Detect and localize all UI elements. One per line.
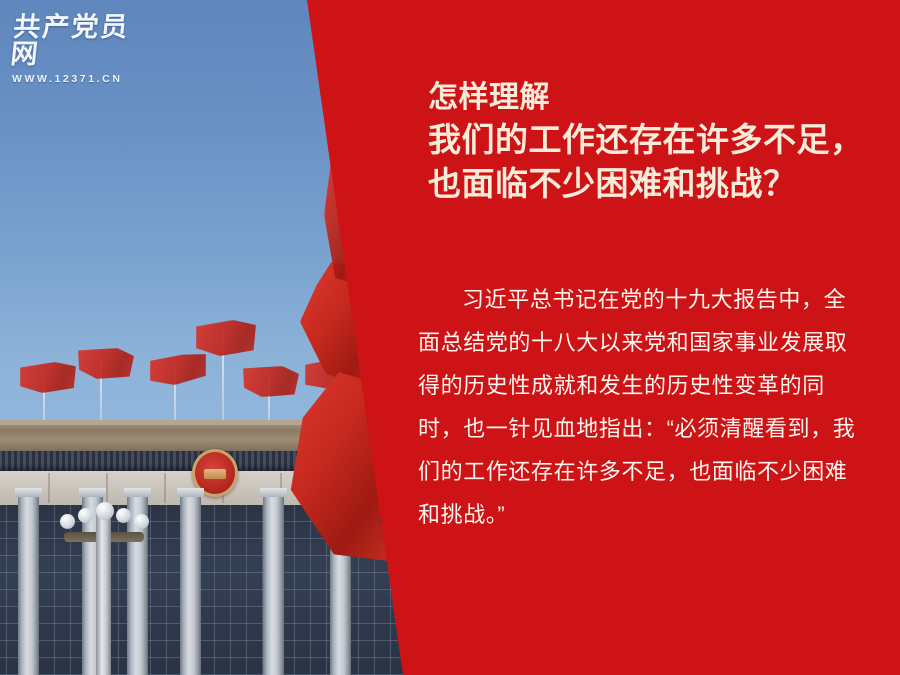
lamp-globe [78,508,93,523]
column-capital [177,488,204,497]
headline-block: 怎样理解 我们的工作还存在许多不足， 也面临不少困难和挑战？ [428,78,868,206]
lamp-globe [60,514,75,529]
poster-canvas: 共产党员网 WWW.12371.CN 怎样理解 我们的工作还存在许多不足， 也面… [0,0,900,675]
chinese-flag [78,348,134,379]
lamp-stem [96,510,111,675]
lamp-globe [134,514,149,529]
headline-line-2: 我们的工作还存在许多不足， [428,118,868,162]
chinese-flag [150,354,206,385]
headline-line-1: 怎样理解 [428,78,868,118]
logo-name-text: 共产党员网 [9,14,155,68]
chinese-flag [243,366,299,397]
column-capital [260,488,287,497]
body-paragraph: 习近平总书记在党的十九大报告中，全面总结党的十八大以来党和国家事业发展取得的历史… [418,278,866,536]
site-logo[interactable]: 共产党员网 WWW.12371.CN [12,14,152,85]
logo-url-text: WWW.12371.CN [12,73,152,85]
headline-line-3: 也面临不少困难和挑战？ [428,162,868,206]
building-column [263,495,284,675]
chinese-flag [20,362,76,393]
column-capital [15,488,42,497]
lamp-globe [96,502,114,520]
body-copy-block: 习近平总书记在党的十九大报告中，全面总结党的十八大以来党和国家事业发展取得的历史… [418,278,866,536]
building-column [180,495,201,675]
chinese-flag [196,320,256,356]
street-lamp-icon [58,488,150,675]
lamp-globe [116,508,131,523]
building-column [18,495,39,675]
